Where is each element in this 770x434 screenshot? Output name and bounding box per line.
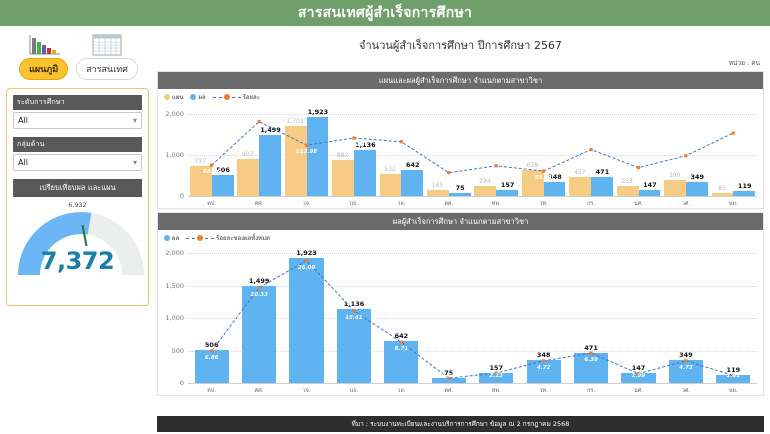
- percent-value-label: 112.98: [296, 149, 317, 155]
- percent-overlay-line: [158, 102, 763, 208]
- tab-chart-view[interactable]: แผนภูมิ: [19, 32, 68, 80]
- percent-value-label: 1.99: [632, 373, 646, 379]
- x-axis-tick-label: วจ.: [283, 200, 330, 208]
- legend-label-plan: แผน: [172, 92, 183, 102]
- x-axis-tick-label: คป.: [188, 200, 235, 208]
- chart1-legend: แผน ผล ร้อยละ: [158, 89, 763, 102]
- chart-card-1: แผนและผลผู้สำเร็จการศึกษา จำแนกตามสาขาวิ…: [157, 71, 764, 209]
- filter-label-education-level: ระดับการศึกษา: [13, 95, 142, 110]
- percent-value-label: 8.71: [395, 346, 409, 352]
- x-axis-tick-label: วศ.: [662, 200, 709, 208]
- filter-value-education-level: All: [18, 116, 28, 125]
- percent-value-label: 55.41: [535, 175, 552, 181]
- x-axis-tick-label: พย.: [710, 200, 757, 208]
- dashboard-root: สารสนเทศผู้สำเร็จการศึกษา: [0, 0, 770, 434]
- table-icon: [76, 32, 138, 56]
- percent-value-label: 63.09: [630, 172, 647, 178]
- legend-item-plan[interactable]: แผน: [164, 92, 183, 102]
- filter-panel: ระดับการศึกษา All ▾ กลุ่มด้าน All ▾ เปรี…: [6, 88, 149, 306]
- legend-dashed-line-icon: [232, 97, 241, 98]
- x-axis-tick-label: บธ.: [330, 200, 377, 208]
- main-content: จำนวนผู้สำเร็จการศึกษา ปีการศึกษา 2567 ห…: [155, 26, 770, 434]
- percent-value-label: 6.86: [205, 355, 219, 361]
- legend-dot-icon: [197, 235, 203, 241]
- legend-label-percent-of-total: ร้อยละของผลทั้งหมด: [216, 233, 270, 243]
- main-chart-title: จำนวนผู้สำเร็จการศึกษา ปีการศึกษา 2567: [157, 30, 764, 58]
- percent-value-label: 51.72: [440, 177, 457, 183]
- percent-value-label: 103.06: [580, 154, 601, 160]
- tab-info-label[interactable]: สารสนเทศ: [76, 58, 138, 80]
- x-axis-labels: คป.ศศ.วจ.บธ.วล.คศ.ทพ.วท.กร.นศ.วศ.พย.: [188, 200, 757, 208]
- percent-overlay-line: [158, 243, 763, 395]
- legend-dashed-line-icon: [213, 97, 222, 98]
- x-axis-tick-label: ทพ.: [473, 387, 520, 395]
- legend-dot-icon: [164, 94, 170, 100]
- kpi-title: เปรียบเทียบผล และแผน: [13, 179, 142, 197]
- gauge-target-label: 6,932: [13, 201, 142, 209]
- page-header: สารสนเทศผู้สำเร็จการศึกษา: [0, 0, 770, 26]
- x-axis-tick-label: กร.: [567, 200, 614, 208]
- chart1-plot: 01,0002,0007375069071,4991,7021,9238821,…: [158, 102, 763, 208]
- percent-value-label: 67.09: [488, 170, 505, 176]
- legend-label-percent: ร้อยละ: [243, 92, 260, 102]
- x-axis-tick-label: วล.: [378, 387, 425, 395]
- view-tabs: แผนภูมิ: [6, 30, 149, 84]
- x-axis-tick-label: วท.: [520, 200, 567, 208]
- x-axis-tick-label: คศ.: [425, 387, 472, 395]
- legend-item-percent-of-total[interactable]: ร้อยละของผลทั้งหมด: [186, 233, 270, 243]
- x-axis-tick-label: กร.: [567, 387, 614, 395]
- dashboard-body: แผนภูมิ: [0, 26, 770, 434]
- chart2-plot: 05001,0001,5002,0005061,4991,9231,136642…: [158, 243, 763, 395]
- percent-value-label: 1.02: [442, 373, 456, 379]
- legend-item-actual[interactable]: ผล: [164, 233, 179, 243]
- chart2-legend: ผล ร้อยละของผลทั้งหมด: [158, 230, 763, 243]
- legend-label-actual: ผล: [198, 92, 205, 102]
- percent-value-label: 26.09: [298, 265, 315, 271]
- x-axis-tick-label: นศ.: [615, 387, 662, 395]
- tab-info-view[interactable]: สารสนเทศ: [76, 32, 138, 80]
- legend-dot-icon: [190, 94, 196, 100]
- percent-value-label: 128.80: [343, 142, 364, 148]
- percent-value-label: 4.72: [537, 365, 551, 371]
- x-axis-tick-label: วล.: [378, 200, 425, 208]
- filter-select-group[interactable]: All ▾: [13, 154, 142, 171]
- x-axis-tick-label: วท.: [520, 387, 567, 395]
- chevron-down-icon: ▾: [133, 116, 137, 125]
- x-axis-tick-label: นศ.: [615, 200, 662, 208]
- percent-value-label: 15.41: [345, 315, 362, 321]
- x-axis-tick-label: วจ.: [283, 387, 330, 395]
- chart2-title: ผลผู้สำเร็จการศึกษา จำแนกตามสาขาวิชา: [158, 213, 763, 230]
- legend-label-actual: ผล: [172, 233, 179, 243]
- filter-value-group: All: [18, 158, 28, 167]
- footer: ที่มา : ระบบงานทะเบียนและงานบริการการศึก…: [157, 416, 764, 432]
- x-axis-tick-label: ศศ.: [235, 387, 282, 395]
- x-axis-tick-label: คป.: [188, 387, 235, 395]
- x-axis-labels: คป.ศศ.วจ.บธ.วล.คศ.ทพ.วท.กร.นศ.วศ.พย.: [188, 387, 757, 395]
- percent-value-label: 20.33: [250, 292, 267, 298]
- x-axis-tick-label: ศศ.: [235, 200, 282, 208]
- x-axis-tick-label: ทพ.: [473, 200, 520, 208]
- percent-value-label: 140.00: [723, 137, 744, 143]
- unit-label: หน่วย : คน: [157, 58, 764, 68]
- legend-dot-icon: [164, 235, 170, 241]
- percent-value-label: 89.49: [677, 160, 694, 166]
- chevron-down-icon: ▾: [133, 158, 137, 167]
- filter-select-education-level[interactable]: All ▾: [13, 112, 142, 129]
- bar-chart-icon: [19, 32, 68, 56]
- x-axis-tick-label: บธ.: [330, 387, 377, 395]
- percent-value-label: 2.13: [489, 373, 503, 379]
- percent-value-label: 68.66: [203, 169, 220, 175]
- x-axis-tick-label: คศ.: [425, 200, 472, 208]
- x-axis-tick-label: วศ.: [662, 387, 709, 395]
- percent-value-label: 1.61: [726, 373, 740, 379]
- gauge-chart: 6,932 7,372: [13, 199, 142, 277]
- legend-dashed-line-icon: [205, 238, 214, 239]
- percent-value-label: 4.73: [679, 365, 693, 371]
- page-title: สารสนเทศผู้สำเร็จการศึกษา: [298, 2, 472, 24]
- percent-value-label: 6.39: [584, 357, 598, 363]
- chart1-title: แผนและผลผู้สำเร็จการศึกษา จำแนกตามสาขาวิ…: [158, 72, 763, 89]
- chart-card-2: ผลผู้สำเร็จการศึกษา จำแนกตามสาขาวิชา ผล …: [157, 212, 764, 396]
- legend-item-actual[interactable]: ผล: [190, 92, 205, 102]
- footer-text: ที่มา : ระบบงานทะเบียนและงานบริการการศึก…: [352, 419, 570, 429]
- legend-dot-icon: [224, 94, 230, 100]
- legend-dashed-line-icon: [186, 238, 195, 239]
- legend-item-percent[interactable]: ร้อยละ: [213, 92, 260, 102]
- gauge-value-label: 7,372: [13, 247, 142, 275]
- sidebar: แผนภูมิ: [0, 26, 155, 434]
- filter-label-group: กลุ่มด้าน: [13, 137, 142, 152]
- tab-chart-label[interactable]: แผนภูมิ: [19, 58, 68, 80]
- x-axis-tick-label: พย.: [710, 387, 757, 395]
